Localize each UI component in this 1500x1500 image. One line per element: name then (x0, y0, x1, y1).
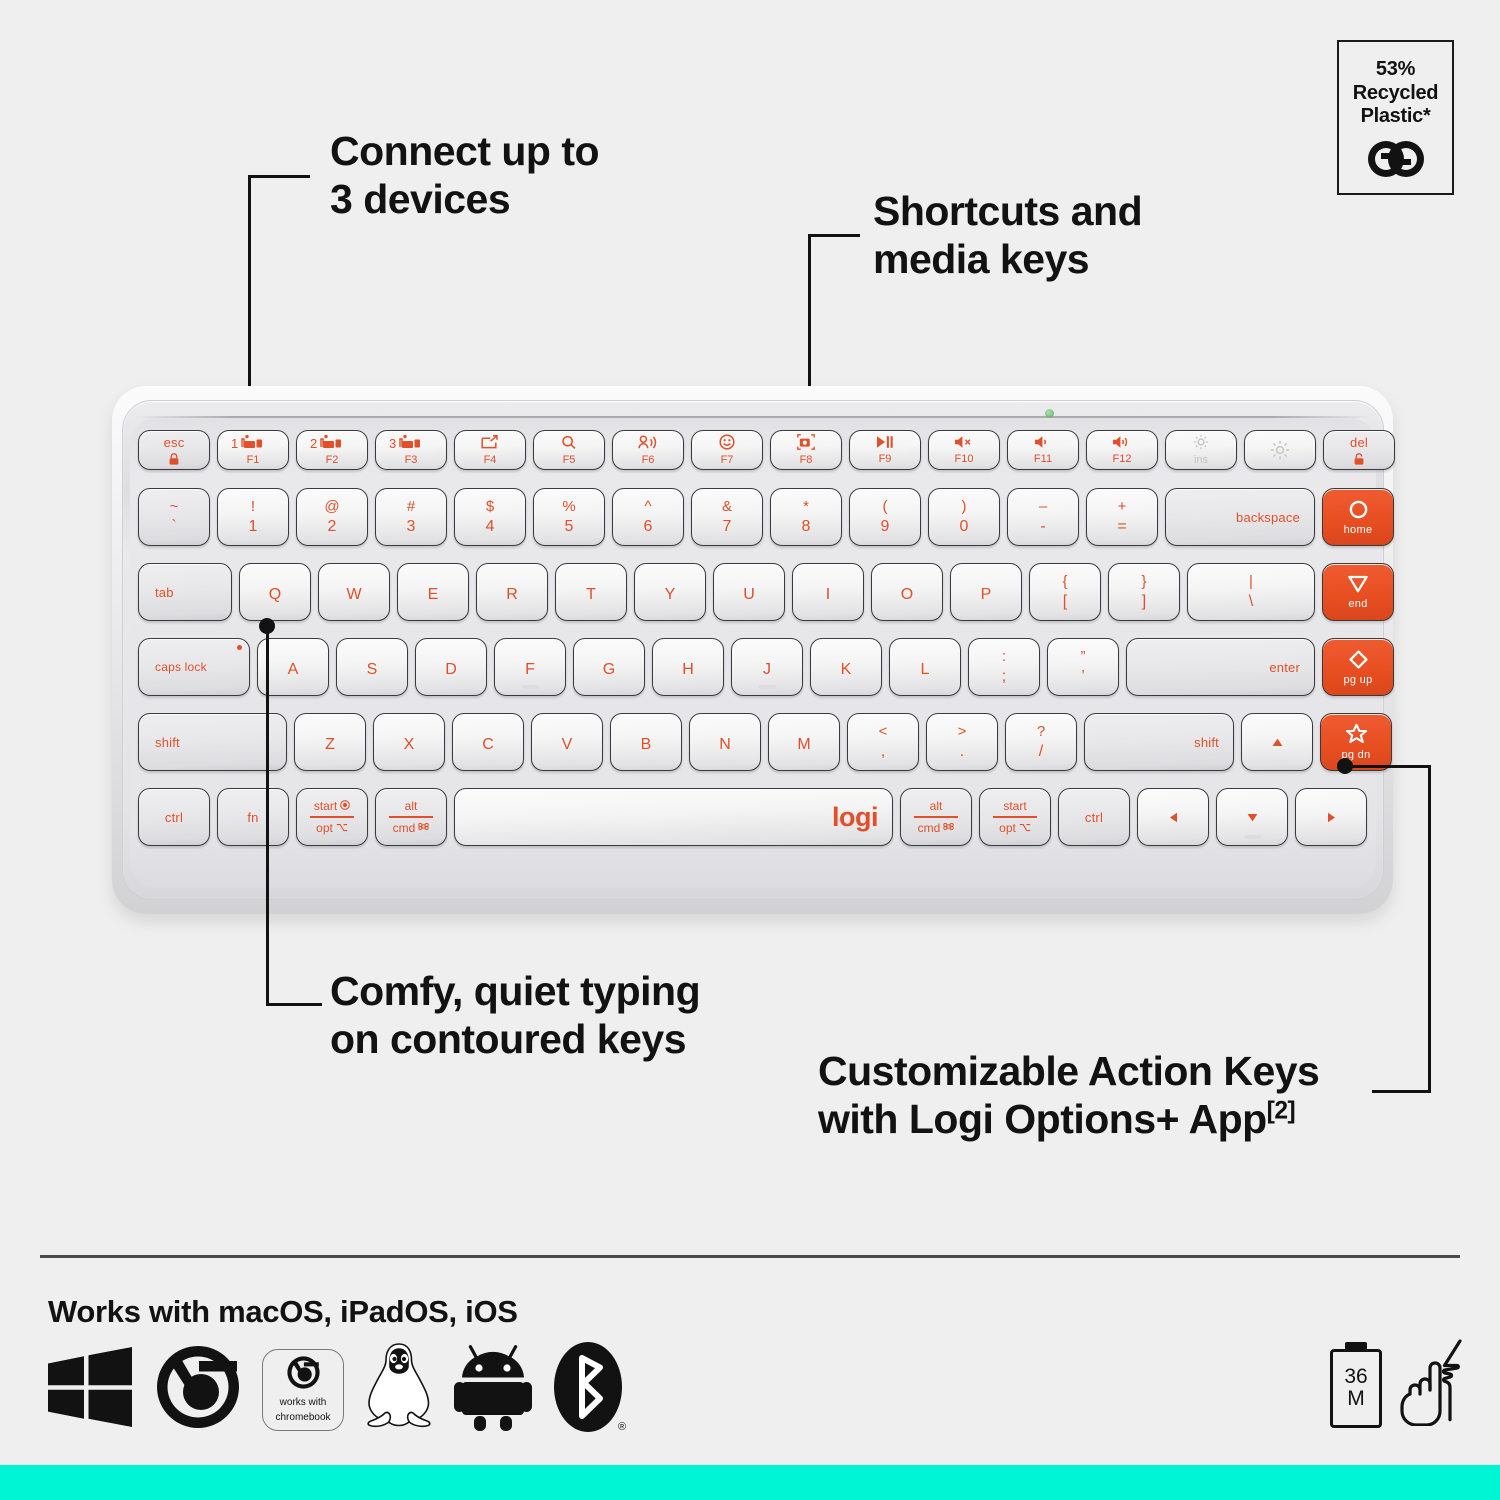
chromebook-badge: works with chromebook (262, 1349, 344, 1431)
option-key-icon (1019, 821, 1031, 835)
key-f-label: F (525, 662, 535, 678)
key-p-label: P (981, 587, 992, 603)
callout-action-keys: Customizable Action Keys with Logi Optio… (818, 1048, 1319, 1143)
android-icon (454, 1343, 532, 1436)
key-split-divider (993, 816, 1037, 817)
key-0-bot: 0 (960, 519, 969, 535)
key-equal[interactable]: + = (1086, 488, 1158, 546)
key-f1-label: F1 (247, 455, 260, 466)
key-bracket-left[interactable]: { [ (1029, 563, 1101, 621)
chrome-icon (287, 1356, 320, 1394)
callout-connect-devices: Connect up to 3 devices (330, 128, 599, 223)
key-ctrl-left-label: ctrl (165, 810, 183, 825)
unlock-icon (1353, 453, 1365, 466)
key-m[interactable]: M (768, 713, 840, 771)
key-space-bar[interactable]: logi (454, 788, 893, 846)
emoji-icon (719, 434, 735, 450)
key-1-top: ! (251, 499, 255, 514)
compatibility-title: Works with macOS, iPadOS, iOS (48, 1294, 518, 1330)
brightness-up-icon (1270, 440, 1290, 460)
key-shift-left[interactable]: shift (138, 713, 287, 771)
key-del-label: del (1350, 435, 1368, 450)
key-0-top: ) (962, 499, 967, 514)
key-k-label: K (841, 662, 852, 678)
key-0[interactable]: ) 0 (928, 488, 1000, 546)
key-split-divider (389, 816, 433, 817)
key-bracket-right-top: } (1141, 574, 1146, 589)
key-semicolon-top: : (1002, 649, 1006, 664)
play-pause-icon (876, 435, 894, 449)
key-o[interactable]: O (871, 563, 943, 621)
callout-comfy-typing: Comfy, quiet typing on contoured keys (330, 968, 700, 1063)
key-pg-dn-action[interactable]: pg dn (1320, 713, 1392, 771)
svg-text:1: 1 (231, 436, 238, 450)
home-row-bump-icon (1244, 835, 1261, 839)
key-i-label: I (826, 587, 830, 603)
key-tab[interactable]: tab (138, 563, 232, 621)
battery-36-months-icon: 36 M (1330, 1342, 1382, 1428)
key-t-label: T (586, 587, 596, 603)
bottom-accent-bar (0, 1465, 1500, 1500)
key-esc-label: esc (164, 435, 185, 450)
key-u[interactable]: U (713, 563, 785, 621)
key-5-bot: 5 (565, 519, 574, 535)
caps-lock-indicator-icon (237, 645, 242, 650)
footer-divider (40, 1255, 1460, 1258)
key-arrow-down[interactable] (1216, 788, 1288, 846)
key-split-divider (914, 816, 958, 817)
key-x-label: X (404, 737, 415, 753)
key-slash-bot: / (1039, 744, 1043, 760)
key-2-top: @ (324, 499, 339, 514)
key-v-label: V (562, 737, 573, 753)
key-6-top: ^ (644, 499, 651, 514)
key-pg-up-label: pg up (1343, 674, 1372, 686)
windows-icon (46, 1347, 134, 1432)
infographic-stage: 53% Recycled Plastic* Connect up to 3 de… (0, 0, 1500, 1500)
key-backslash[interactable]: | \ (1187, 563, 1315, 621)
key-home-label: home (1344, 524, 1373, 536)
key-5[interactable]: % 5 (533, 488, 605, 546)
key-f5-search[interactable]: F5 (533, 430, 605, 470)
key-bracket-right[interactable]: } ] (1108, 563, 1180, 621)
compatibility-icon-row: works with chromebook (46, 1340, 628, 1439)
key-arrow-left[interactable] (1137, 788, 1209, 846)
key-b[interactable]: B (610, 713, 682, 771)
key-4-top: $ (486, 499, 494, 514)
key-f3-label: F3 (405, 455, 418, 466)
svg-text:3: 3 (389, 436, 396, 450)
key-q[interactable]: Q (239, 563, 311, 621)
key-comma-top: < (879, 724, 888, 739)
option-key-icon (336, 821, 348, 835)
key-start-opt-right-bot: opt (999, 821, 1031, 835)
key-9[interactable]: ( 9 (849, 488, 921, 546)
key-c[interactable]: C (452, 713, 524, 771)
key-home-action[interactable]: home (1322, 488, 1394, 546)
key-3[interactable]: # 3 (375, 488, 447, 546)
key-7-top: & (722, 499, 732, 514)
key-x[interactable]: X (373, 713, 445, 771)
key-j[interactable]: J (731, 638, 803, 696)
key-alt-cmd-left-bot: cmd (393, 821, 430, 835)
key-f2-label: F2 (326, 455, 339, 466)
key-d-label: D (445, 662, 457, 678)
star-icon (1345, 723, 1368, 745)
device-switch-icon: 1 (231, 435, 275, 450)
key-c-label: C (482, 737, 494, 753)
key-v[interactable]: V (531, 713, 603, 771)
device-switch-icon: 3 (389, 435, 433, 450)
key-9-bot: 9 (881, 519, 890, 535)
badge-line-plastic: Plastic* (1361, 105, 1431, 129)
key-1[interactable]: ! 1 (217, 488, 289, 546)
lock-icon (168, 453, 180, 466)
volume-up-icon (1112, 435, 1132, 449)
arrow-down-icon (1246, 812, 1259, 823)
arrow-left-icon (1168, 811, 1179, 824)
key-9-top: ( (883, 499, 888, 514)
key-start-opt-right[interactable]: start opt (979, 788, 1051, 846)
volume-down-icon (1034, 435, 1052, 449)
key-s-label: S (367, 662, 378, 678)
key-t[interactable]: T (555, 563, 627, 621)
key-esc[interactable]: esc (138, 430, 210, 470)
brightness-down-icon (1193, 434, 1209, 450)
key-f10-mute[interactable]: F10 (928, 430, 1000, 470)
key-6-bot: 6 (644, 519, 653, 535)
key-backslash-top: | (1249, 574, 1253, 589)
key-p[interactable]: P (950, 563, 1022, 621)
linux-tux-icon (366, 1341, 432, 1438)
windows-start-icon (340, 799, 350, 813)
key-f12-label: F12 (1113, 454, 1132, 465)
key-bracket-left-top: { (1062, 574, 1067, 589)
key-minus-top: – (1039, 499, 1047, 514)
key-8-top: * (803, 499, 809, 514)
key-b-label: B (641, 737, 652, 753)
key-u-label: U (743, 587, 755, 603)
key-comma-bot: , (881, 744, 885, 760)
key-ins-brightness-down[interactable]: ins (1165, 430, 1237, 470)
key-del[interactable]: del (1323, 430, 1395, 470)
key-f7-label: F7 (721, 455, 734, 466)
key-f6-dictation[interactable]: F6 (612, 430, 684, 470)
dictation-icon (638, 435, 658, 450)
key-g-label: G (603, 662, 615, 678)
key-7[interactable]: & 7 (691, 488, 763, 546)
battery-unit: M (1347, 1388, 1365, 1410)
key-row-qwerty: tab Q W E R T Y U I O P { [ } ] (138, 563, 1394, 621)
key-backspace[interactable]: backspace (1165, 488, 1315, 546)
key-arrow-up[interactable] (1241, 713, 1313, 771)
command-key-icon (418, 821, 429, 835)
badge-line-recycled: Recycled (1353, 82, 1438, 106)
battery-shell: 36 M (1330, 1349, 1382, 1428)
callout-comfy-line1: Comfy, quiet typing (330, 968, 700, 1016)
callout-connect-line1: Connect up to (330, 128, 599, 176)
key-fn-label: fn (247, 810, 258, 825)
key-alt-cmd-right-top: alt (930, 799, 943, 813)
leader-dot-comfy (259, 618, 275, 634)
key-f10-label: F10 (955, 454, 974, 465)
show-apps-icon (481, 435, 499, 450)
key-bracket-right-bot: ] (1142, 594, 1146, 610)
key-brightness-up[interactable] (1244, 430, 1316, 470)
key-5-top: % (562, 499, 575, 514)
key-n[interactable]: N (689, 713, 761, 771)
key-semicolon-bot: ; (1002, 669, 1006, 685)
badge-percent: 53% (1376, 58, 1415, 82)
arrow-up-icon (1271, 737, 1284, 748)
key-w[interactable]: W (318, 563, 390, 621)
key-row-number: ~ ` ! 1 @ 2 # 3 $ 4 (138, 488, 1394, 546)
key-quote-bot: ’ (1081, 669, 1085, 685)
key-o-label: O (901, 587, 913, 603)
logi-logo: logi (832, 802, 878, 833)
key-period-top: > (958, 724, 967, 739)
key-shift-right-label: shift (1194, 735, 1219, 750)
key-8[interactable]: * 8 (770, 488, 842, 546)
key-comma[interactable]: < , (847, 713, 919, 771)
key-3-top: # (407, 499, 415, 514)
key-4-bot: 4 (486, 519, 495, 535)
key-2-bot: 2 (328, 519, 337, 535)
callout-action-line2: with Logi Options+ App[2] (818, 1096, 1319, 1144)
key-f3-device-3[interactable]: 3 F3 (375, 430, 447, 470)
key-f11-label: F11 (1034, 454, 1052, 465)
key-l[interactable]: L (889, 638, 961, 696)
key-ins-label: ins (1194, 455, 1208, 466)
key-1-bot: 1 (249, 519, 258, 535)
key-h-label: H (682, 662, 694, 678)
key-i[interactable]: I (792, 563, 864, 621)
key-2[interactable]: @ 2 (296, 488, 368, 546)
key-f[interactable]: F (494, 638, 566, 696)
home-row-bump-icon (522, 685, 539, 689)
key-period-bot: . (960, 744, 964, 760)
callout-connect-line2: 3 devices (330, 176, 599, 224)
key-backtick[interactable]: ~ ` (138, 488, 210, 546)
key-caps-lock-label: caps lock (155, 660, 207, 674)
leader-dot-action (1337, 758, 1353, 774)
key-start-opt-right-top: start (1003, 799, 1026, 813)
key-w-label: W (346, 587, 361, 603)
key-j-label: J (763, 662, 771, 678)
key-f4-label: F4 (484, 455, 497, 466)
key-y[interactable]: Y (634, 563, 706, 621)
chromebook-line2: chromebook (275, 1412, 330, 1424)
spec-icon-row: 36 M (1330, 1338, 1474, 1431)
diamond-icon (1348, 649, 1369, 670)
key-g[interactable]: G (573, 638, 645, 696)
key-ctrl-left[interactable]: ctrl (138, 788, 210, 846)
key-alt-cmd-right-bot: cmd (918, 821, 955, 835)
mute-icon (954, 435, 974, 449)
key-f9-label: F9 (879, 454, 892, 465)
quiet-typing-shush-icon (1398, 1338, 1474, 1431)
leader-line-comfy (266, 625, 328, 1010)
chromebook-line1: works with (280, 1397, 327, 1409)
status-led-green (1045, 409, 1054, 418)
key-alt-cmd-right[interactable]: alt cmd (900, 788, 972, 846)
callout-shortcuts-line1: Shortcuts and (873, 188, 1142, 236)
key-e-label: E (428, 587, 439, 603)
key-slash-top: ? (1037, 724, 1045, 739)
key-backtick-bot: ` (171, 519, 176, 535)
footnote-marker: [2] (1267, 1097, 1296, 1124)
key-r[interactable]: R (476, 563, 548, 621)
battery-value: 36 (1344, 1366, 1367, 1388)
keyboard-top-edge (134, 416, 1372, 418)
key-enter-label: enter (1269, 660, 1300, 675)
key-n-label: N (719, 737, 731, 753)
key-6[interactable]: ^ 6 (612, 488, 684, 546)
key-3-bot: 3 (407, 519, 416, 535)
key-m-label: M (797, 737, 810, 753)
device-switch-icon: 2 (310, 435, 354, 450)
key-pg-up-action[interactable]: pg up (1322, 638, 1394, 696)
key-l-label: L (921, 662, 930, 678)
key-f4-show-apps[interactable]: F4 (454, 430, 526, 470)
key-equal-top: + (1118, 499, 1127, 514)
svg-text:2: 2 (310, 436, 317, 450)
key-enter[interactable]: enter (1126, 638, 1315, 696)
key-shift-right[interactable]: shift (1084, 713, 1234, 771)
key-equal-bot: = (1117, 519, 1126, 535)
key-backslash-bot: \ (1249, 594, 1253, 610)
key-semicolon[interactable]: : ; (968, 638, 1040, 696)
key-f2-device-2[interactable]: 2 F2 (296, 430, 368, 470)
key-f9-play-pause[interactable]: F9 (849, 430, 921, 470)
key-f6-label: F6 (642, 455, 655, 466)
key-end-action[interactable]: end (1322, 563, 1394, 621)
key-quote-top: ” (1081, 649, 1086, 664)
bluetooth-icon: ® (554, 1340, 628, 1439)
key-alt-cmd-left-top: alt (405, 799, 418, 813)
chrome-icon (156, 1345, 240, 1434)
key-bracket-left-bot: [ (1063, 594, 1067, 610)
key-minus[interactable]: – - (1007, 488, 1079, 546)
key-backtick-top: ~ (170, 499, 179, 514)
key-backspace-label: backspace (1236, 510, 1300, 525)
key-period[interactable]: > . (926, 713, 998, 771)
key-f11-volume-down[interactable]: F11 (1007, 430, 1079, 470)
key-ctrl-right-label: ctrl (1085, 810, 1103, 825)
key-end-label: end (1348, 598, 1367, 610)
arrow-right-icon (1326, 811, 1337, 824)
key-e[interactable]: E (397, 563, 469, 621)
key-slash[interactable]: ? / (1005, 713, 1077, 771)
leader-line-action (1345, 765, 1435, 1100)
key-f7-emoji[interactable]: F7 (691, 430, 763, 470)
recycle-loop-icon (1368, 137, 1424, 188)
key-s[interactable]: S (336, 638, 408, 696)
recycled-plastic-badge: 53% Recycled Plastic* (1337, 40, 1454, 195)
key-r-label: R (506, 587, 518, 603)
search-icon (561, 435, 577, 450)
key-f5-label: F5 (563, 455, 576, 466)
key-f8-label: F8 (800, 455, 813, 466)
callout-shortcuts-media: Shortcuts and media keys (873, 188, 1142, 283)
key-k[interactable]: K (810, 638, 882, 696)
key-row-function: esc 1 F1 2 F2 (138, 430, 1395, 470)
key-alt-cmd-left[interactable]: alt cmd (375, 788, 447, 846)
key-8-bot: 8 (802, 519, 811, 535)
key-7-bot: 7 (723, 519, 732, 535)
triangle-down-icon (1347, 574, 1369, 594)
callout-shortcuts-line2: media keys (873, 236, 1142, 284)
key-quote[interactable]: ” ’ (1047, 638, 1119, 696)
key-minus-bot: - (1040, 519, 1045, 535)
command-key-icon (943, 821, 954, 835)
key-caps-lock[interactable]: caps lock (138, 638, 250, 696)
key-ctrl-right[interactable]: ctrl (1058, 788, 1130, 846)
key-h[interactable]: H (652, 638, 724, 696)
callout-action-line1: Customizable Action Keys (818, 1048, 1319, 1096)
key-f12-volume-up[interactable]: F12 (1086, 430, 1158, 470)
key-f8-screenshot[interactable]: F8 (770, 430, 842, 470)
callout-comfy-line2: on contoured keys (330, 1016, 700, 1064)
home-row-bump-icon (759, 685, 776, 689)
screenshot-icon (797, 434, 815, 450)
key-y-label: Y (665, 587, 676, 603)
key-tab-label: tab (155, 585, 174, 600)
key-4[interactable]: $ 4 (454, 488, 526, 546)
key-d[interactable]: D (415, 638, 487, 696)
svg-text:®: ® (618, 1421, 626, 1433)
key-shift-left-label: shift (155, 735, 180, 750)
circle-icon (1348, 499, 1369, 520)
key-q-label: Q (269, 587, 281, 603)
key-f1-device-1[interactable]: 1 F1 (217, 430, 289, 470)
